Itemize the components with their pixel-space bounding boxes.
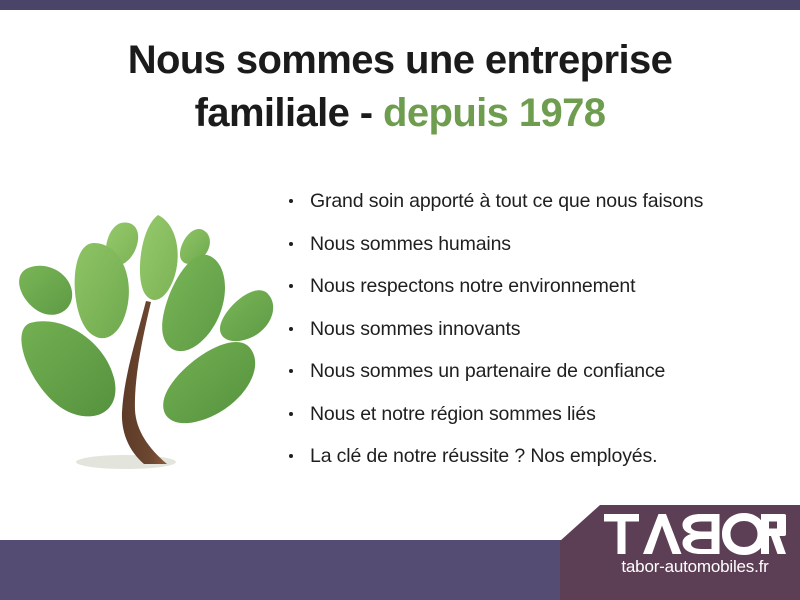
list-item-label: Nous sommes innovants xyxy=(310,318,520,340)
bullet-dot-icon xyxy=(289,199,293,203)
list-item-label: Nous sommes humains xyxy=(310,233,511,255)
top-accent-bar xyxy=(0,0,800,10)
bullet-dot-icon xyxy=(289,284,293,288)
bullet-dot-icon xyxy=(289,412,293,416)
list-item-label: La clé de notre réussite ? Nos employés. xyxy=(310,445,657,467)
list-item-label: Nous respectons notre environnement xyxy=(310,275,635,297)
value-list: Grand soin apporté à tout ce que nous fa… xyxy=(286,190,786,488)
list-item: Nous sommes un partenaire de confiance xyxy=(286,360,786,382)
list-item-label: Nous et notre région sommes liés xyxy=(310,403,596,425)
list-item: Nous respectons notre environnement xyxy=(286,275,786,297)
bullet-dot-icon xyxy=(289,369,293,373)
bullet-dot-icon xyxy=(289,327,293,331)
tabor-wordmark-icon xyxy=(604,512,786,556)
headline-line-2-accent: depuis 1978 xyxy=(383,91,605,135)
brand-tagline: tabor-automobiles.fr xyxy=(600,557,790,577)
list-item-label: Nous sommes un partenaire de confiance xyxy=(310,360,665,382)
slide-canvas: Nous sommes une entreprise familiale - d… xyxy=(0,0,800,600)
leaf-mid-left xyxy=(19,266,72,315)
tree-illustration xyxy=(18,190,280,492)
leaf-top-center xyxy=(140,215,178,300)
bullet-dot-icon xyxy=(289,242,293,246)
list-item-label: Grand soin apporté à tout ce que nous fa… xyxy=(310,190,703,212)
page-title: Nous sommes une entreprise familiale - d… xyxy=(0,34,800,140)
list-item: Nous et notre région sommes liés xyxy=(286,403,786,425)
headline-line-2-plain: familiale - xyxy=(195,91,383,135)
list-item: La clé de notre réussite ? Nos employés. xyxy=(286,445,786,467)
leaf-lower-right xyxy=(163,342,255,423)
headline-line-1: Nous sommes une entreprise xyxy=(128,38,673,82)
tree-trunk xyxy=(122,301,167,464)
list-item: Grand soin apporté à tout ce que nous fa… xyxy=(286,190,786,212)
list-item: Nous sommes humains xyxy=(286,233,786,255)
bullet-dot-icon xyxy=(289,454,293,458)
leaf-mid-right xyxy=(220,290,273,341)
list-item: Nous sommes innovants xyxy=(286,318,786,340)
brand-logo[interactable]: tabor-automobiles.fr xyxy=(600,512,790,577)
